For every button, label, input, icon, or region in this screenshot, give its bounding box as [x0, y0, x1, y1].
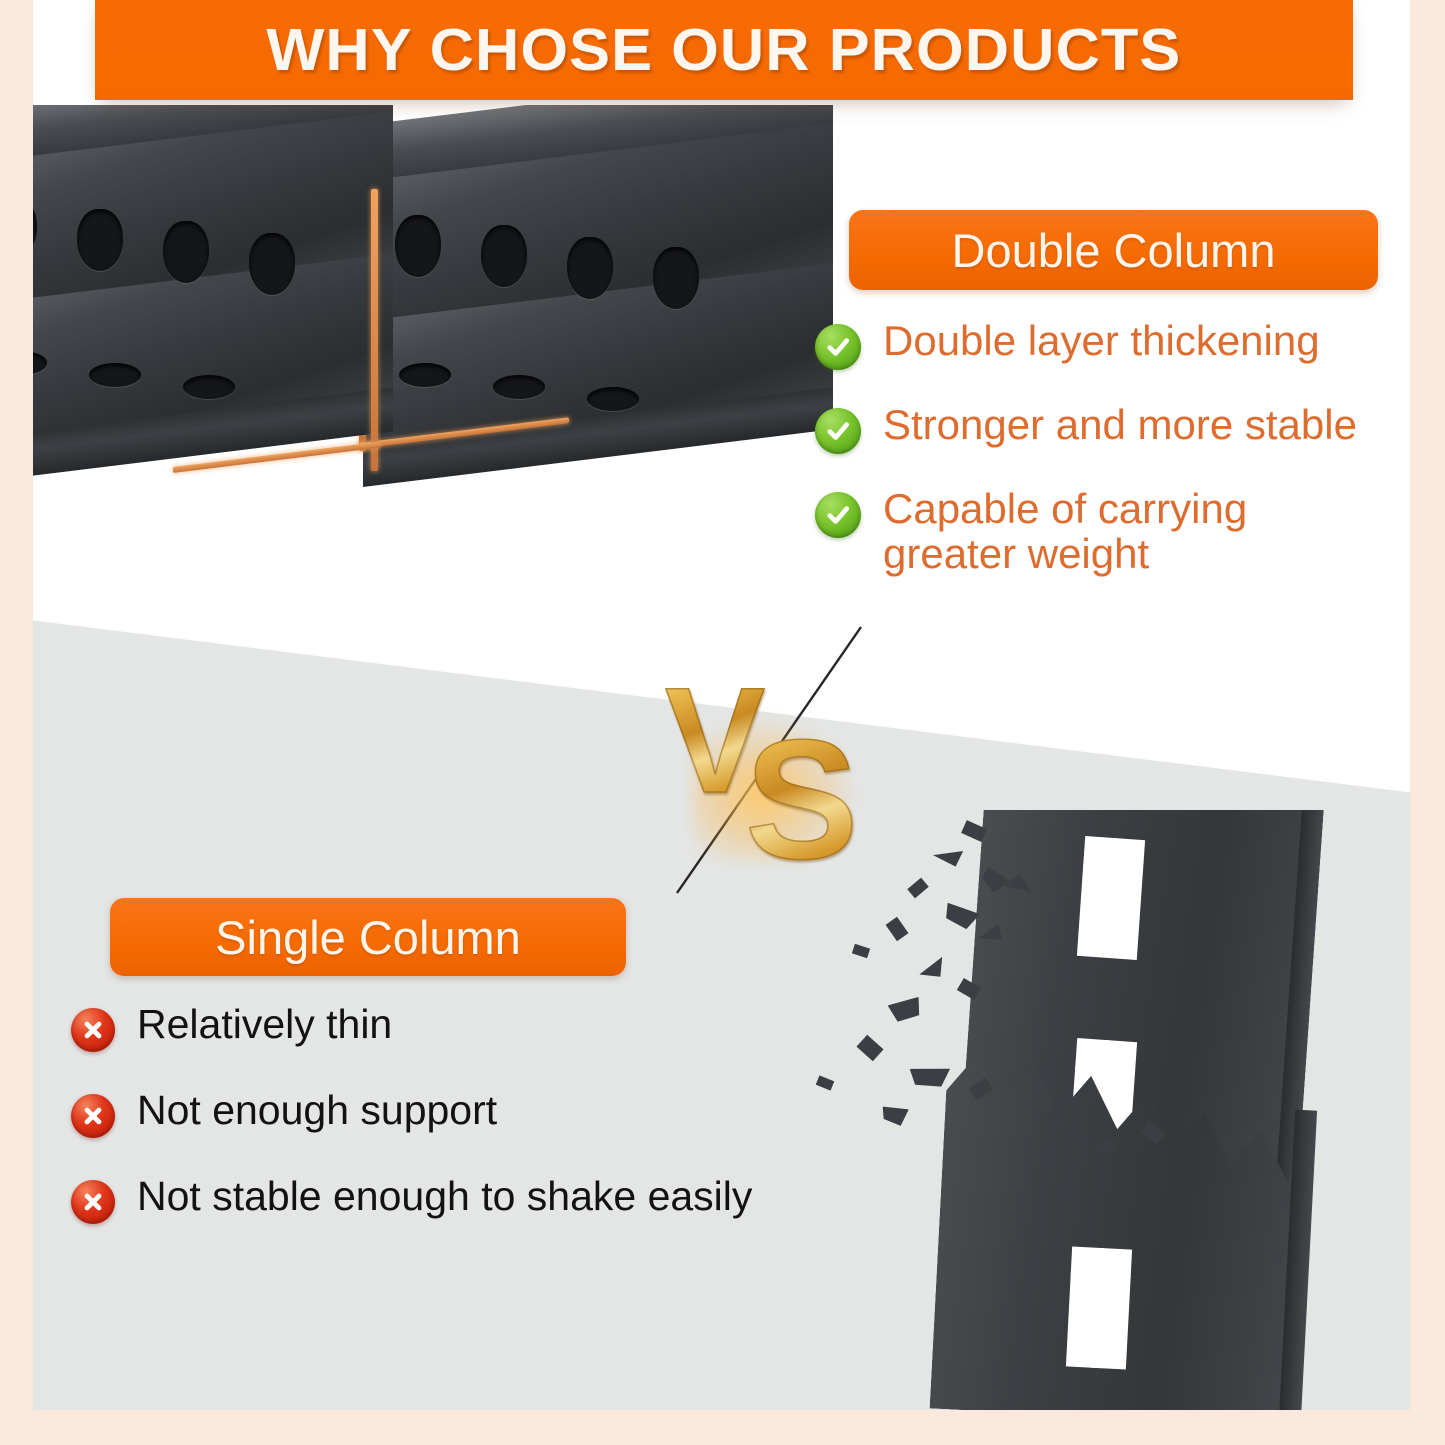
check-circle-icon — [815, 408, 861, 454]
check-circle-icon — [815, 492, 861, 538]
list-item: Not enough support — [71, 1088, 911, 1138]
single-column-label: Single Column — [110, 898, 626, 976]
keyhole-slot-stem — [1095, 879, 1124, 954]
list-item-label: Not enough support — [137, 1088, 497, 1132]
versus-emblem: V S — [633, 625, 913, 895]
list-item: Not stable enough to shake easily — [71, 1174, 911, 1224]
debris-shard — [933, 846, 967, 872]
rail-keyhole-slot — [163, 221, 209, 283]
rail-keyhole-slot — [395, 215, 441, 277]
steel-rail-back — [363, 125, 833, 545]
rail-small-slot — [493, 375, 545, 399]
page-title: WHY CHOSE OUR PRODUCTS — [267, 21, 1182, 80]
page-title-banner: WHY CHOSE OUR PRODUCTS — [95, 0, 1353, 100]
list-item-label: Capable of carrying greater weight — [883, 486, 1247, 577]
double-column-label: Double Column — [849, 210, 1378, 290]
cons-list: Relatively thin Not enough support — [71, 1002, 911, 1260]
versus-letter-s: S — [745, 715, 858, 885]
list-item-label: Not stable enough to shake easily — [137, 1174, 752, 1218]
rail-keyhole-slot — [653, 247, 699, 309]
keyhole-slot-stem — [1084, 1287, 1112, 1368]
rail-keyhole-slot — [249, 233, 295, 295]
debris-shard — [943, 903, 981, 932]
double-column-label-text: Double Column — [952, 227, 1276, 274]
rail-keyhole-slot — [567, 237, 613, 299]
rail-copper-edge-vertical — [371, 189, 378, 471]
list-item: Stronger and more stable — [815, 402, 1410, 454]
rail-small-slot — [399, 363, 451, 387]
debris-shard — [886, 917, 909, 941]
list-item: Double layer thickening — [815, 318, 1410, 370]
list-item: Relatively thin — [71, 1002, 911, 1052]
list-item-label: Relatively thin — [137, 1002, 392, 1046]
rail-small-slot — [587, 387, 639, 411]
double-column-photo — [33, 105, 833, 605]
rail-keyhole-slot — [77, 209, 123, 271]
rail-small-slot — [89, 363, 141, 387]
post-keyhole-slot — [1077, 836, 1145, 960]
infographic-root: V S Double Column Double layer thickenin… — [0, 0, 1445, 1445]
content-canvas: V S Double Column Double layer thickenin… — [33, 0, 1410, 1410]
debris-shard — [852, 944, 870, 958]
list-item: Capable of carrying greater weight — [815, 486, 1410, 577]
list-item-label: Stronger and more stable — [883, 402, 1357, 447]
rail-keyhole-slot — [481, 225, 527, 287]
check-circle-icon — [815, 324, 861, 370]
debris-shard — [919, 952, 950, 985]
single-column-label-text: Single Column — [215, 914, 521, 961]
rail-small-slot — [183, 375, 235, 399]
post-keyhole-slot — [1066, 1247, 1132, 1370]
cross-circle-icon — [71, 1008, 115, 1052]
cross-circle-icon — [71, 1180, 115, 1224]
debris-shard — [910, 1063, 953, 1090]
pros-list: Double layer thickening Stronger and mor… — [815, 318, 1410, 609]
list-item-label: Double layer thickening — [883, 318, 1320, 363]
cross-circle-icon — [71, 1094, 115, 1138]
steel-rail-front — [33, 105, 393, 555]
